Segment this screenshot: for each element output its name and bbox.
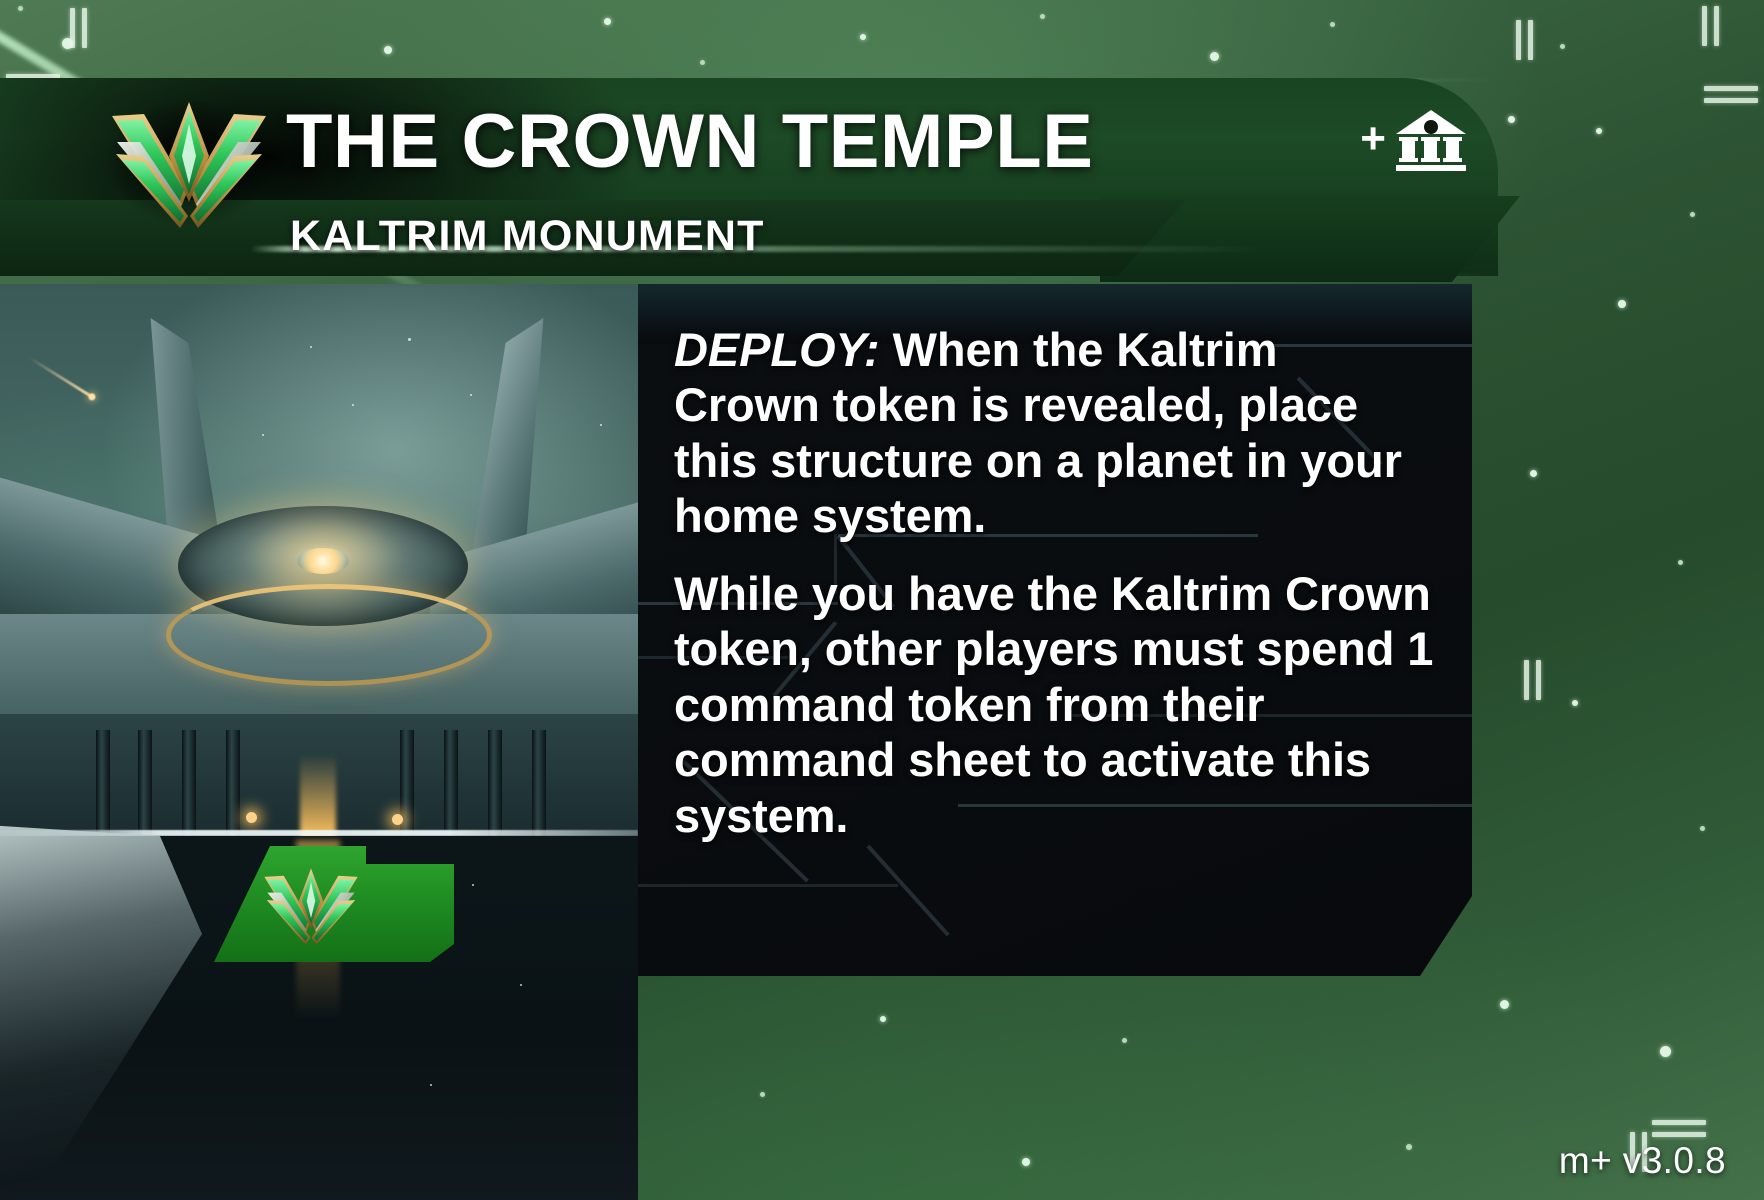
title-block: THE CROWN TEMPLE bbox=[286, 104, 1094, 180]
frame-speck bbox=[1406, 1144, 1412, 1150]
frame-speck bbox=[760, 1092, 765, 1097]
frame-speck bbox=[384, 46, 392, 54]
rules-keyword-deploy: DEPLOY: bbox=[674, 323, 880, 376]
frame-speck bbox=[604, 18, 611, 25]
card-type-indicator: + bbox=[1360, 108, 1468, 177]
frame-speck bbox=[1122, 1038, 1127, 1043]
frame-tick-mark bbox=[1702, 6, 1726, 51]
frame-speck bbox=[1660, 1046, 1671, 1057]
frame-speck bbox=[1040, 14, 1045, 19]
rules-body-2: While you have the Kaltrim Crown token, … bbox=[674, 567, 1433, 842]
frame-speck bbox=[1500, 1000, 1509, 1009]
card-title: THE CROWN TEMPLE bbox=[286, 104, 1094, 180]
frame-tick-mark bbox=[1516, 20, 1540, 65]
frame-speck bbox=[1022, 1158, 1030, 1166]
version-label: m+ v3.0.8 bbox=[1559, 1140, 1726, 1182]
frame-speck bbox=[880, 1016, 886, 1022]
temple-core-ring bbox=[166, 584, 492, 686]
frame-tick-mark bbox=[1524, 660, 1548, 705]
frame-tick-mark bbox=[70, 8, 94, 53]
frame-speck bbox=[1560, 44, 1565, 49]
frame-tick-mark bbox=[1704, 86, 1758, 110]
frame-speck bbox=[1572, 700, 1578, 706]
temple-icon-svg bbox=[1394, 108, 1468, 172]
frame-speck bbox=[1530, 470, 1537, 477]
card-subtitle: KALTRIM MONUMENT bbox=[290, 212, 765, 261]
faction-tab-emblem-icon bbox=[258, 866, 364, 946]
frame-speck bbox=[1210, 52, 1219, 61]
crown-emblem-svg bbox=[104, 98, 274, 230]
frame-speck bbox=[700, 60, 705, 65]
kaltrim-crown-emblem-icon bbox=[104, 98, 274, 230]
card-rules-text: DEPLOY: When the Kaltrim Crown token is … bbox=[674, 322, 1434, 865]
temple-icon bbox=[1394, 108, 1468, 177]
frame-speck bbox=[18, 6, 23, 11]
frame-speck bbox=[1508, 116, 1515, 123]
frame-speck bbox=[1700, 826, 1705, 831]
frame-speck bbox=[1618, 300, 1626, 308]
frame-speck bbox=[1690, 212, 1695, 217]
rules-paragraph-1: DEPLOY: When the Kaltrim Crown token is … bbox=[674, 322, 1434, 544]
crown-emblem-svg-small bbox=[258, 866, 364, 946]
frame-speck bbox=[860, 34, 866, 40]
frame-speck bbox=[1678, 560, 1683, 565]
card-artwork bbox=[0, 284, 638, 1200]
game-card: THE CROWN TEMPLE KALTRIM MONUMENT + bbox=[0, 0, 1764, 1200]
frame-speck bbox=[1330, 22, 1335, 27]
plus-icon: + bbox=[1360, 117, 1386, 161]
rules-paragraph-2: While you have the Kaltrim Crown token, … bbox=[674, 566, 1434, 843]
frame-speck bbox=[1596, 128, 1602, 134]
